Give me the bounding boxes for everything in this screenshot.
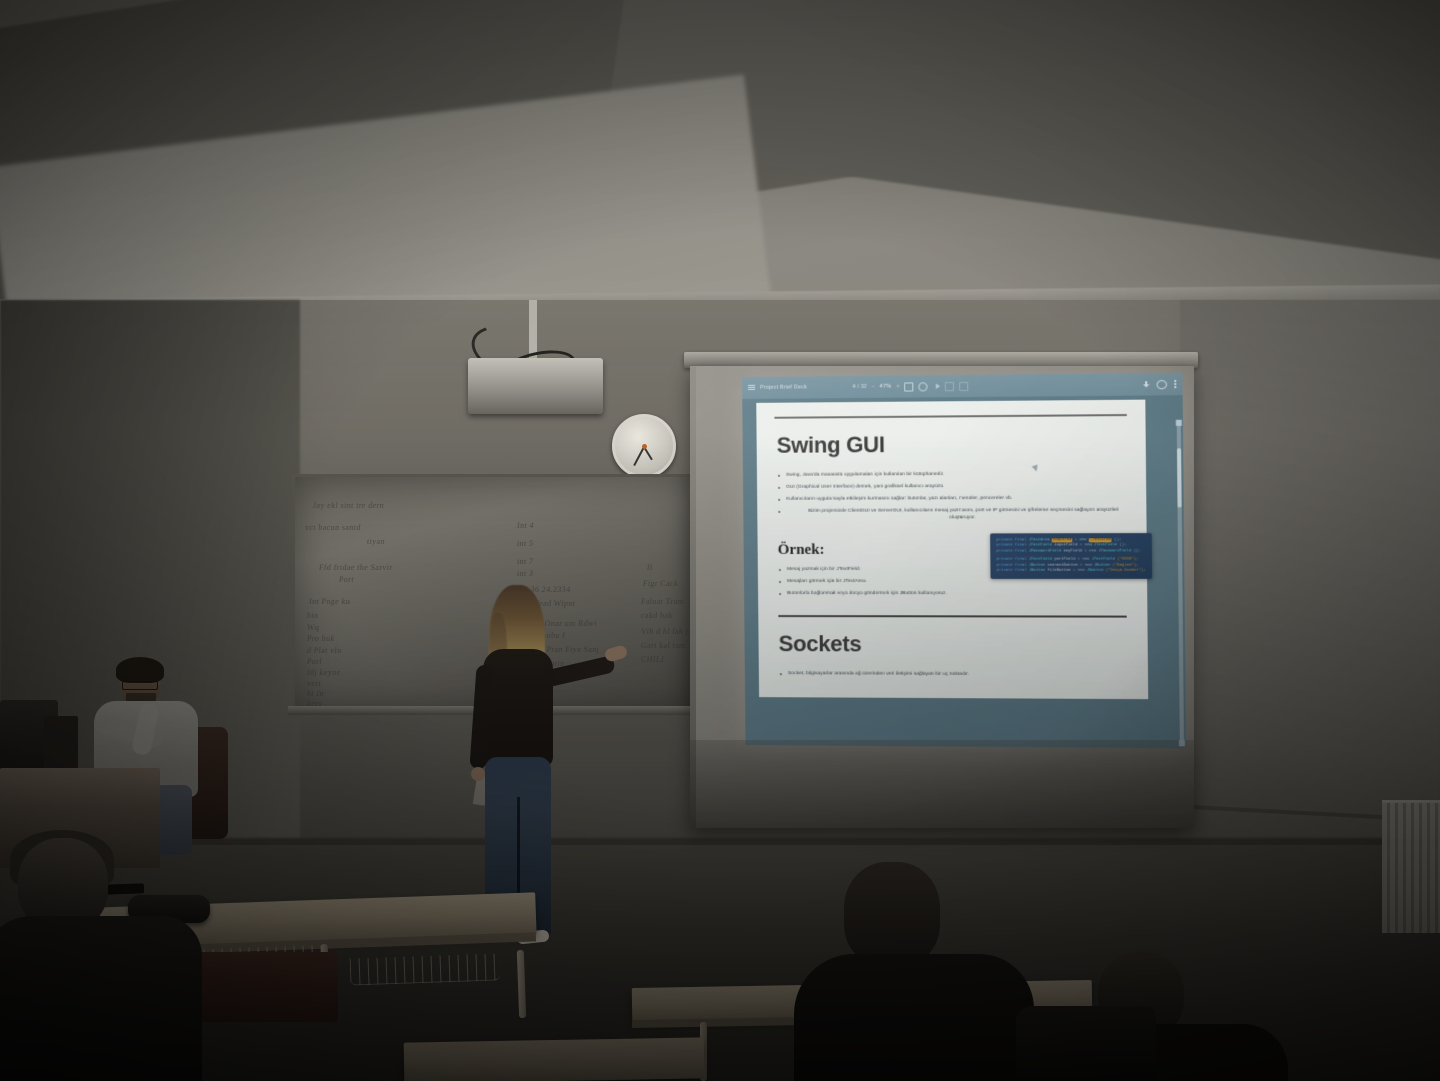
presenter-left-hand [471,767,485,781]
code-keyword: private final [996,558,1026,562]
eyeglasses-icon [122,681,158,690]
whiteboard-note: cakd bak [640,611,673,620]
student-torso [0,916,202,1081]
student-desk [404,1037,705,1081]
code-operator: = new [1078,558,1090,562]
code-variable: inputField [1054,544,1077,548]
code-variable: connectButton [1047,563,1077,567]
page-current: 4 [853,384,856,390]
code-variable: keyField [1064,549,1083,553]
code-tail: (); [1114,538,1121,542]
code-string: ("5000"); [1117,558,1138,562]
rotate-icon[interactable] [919,382,928,391]
code-operator: = new [1075,538,1087,542]
toolbar-right-controls [1143,373,1176,396]
code-highlight: chatArea [1052,538,1073,542]
code-operator: = new [1073,569,1085,573]
code-class: JButton [1087,569,1103,573]
whiteboard-note: Figr Cack [642,579,678,588]
slide-content: Swing GUI Swing, Java'da masaüstü uygula… [756,416,1148,700]
whiteboard-note: Int 4 [516,521,534,530]
whiteboard-note: Gart kal tam [640,641,686,650]
list-item: GUI (Graphical User Interface) demek, ya… [777,483,1125,491]
example-bullet-list: Mesaj yazmak için bir JTextField. Mesajl… [778,567,981,598]
list-item: Butonlarla bağlanmak veya dosya gönderme… [778,591,980,598]
page-separator: / [857,384,858,390]
whiteboard-note: Port [338,575,354,584]
highlight-tool-icon[interactable] [959,381,968,390]
code-class: JTextField [1094,544,1117,548]
clock-minute-hand [633,447,645,466]
example-section: Örnek: Mesaj yazmak için bir JTextField.… [777,527,1126,604]
wall-clock [612,414,676,478]
ceiling [0,0,1440,310]
code-tail: (); [1134,549,1141,553]
print-icon[interactable] [1157,380,1167,389]
slide-title: Swing GUI [777,430,1126,458]
whiteboard-note: Vih d hl lah j [640,627,688,636]
list-item: Bizim projemizde ClientGUI ve ServerGUI,… [777,508,1125,522]
whiteboard-note: Jay ekl sint tre dern [312,501,384,510]
code-keyword: private final [996,549,1026,553]
fit-page-icon[interactable] [905,382,914,391]
seated-person-hair [116,657,164,683]
code-type: JButton [1029,569,1045,573]
page-indicator[interactable]: 4 / 32 [853,384,867,390]
scrollbar-thumb[interactable] [1177,448,1182,507]
whiteboard-note: fi [646,563,653,572]
whiteboard-note: vct bacun santd [304,523,361,532]
code-line: private final JButton fileButton = new J… [997,569,1146,575]
code-variable: portField [1054,558,1075,562]
example-heading: Örnek: [778,542,981,559]
code-string: ("Dosya Gonder"); [1106,569,1146,573]
code-class: JPasswordField [1099,549,1132,553]
more-options-icon[interactable] [1174,380,1176,388]
whiteboard-note: fdj keyne [306,668,341,677]
code-class: JTextField [1092,558,1115,562]
zoom-in-button[interactable]: + [896,384,899,390]
hamburger-menu-icon[interactable] [748,385,755,391]
toolbar-center-controls: 4 / 32 − 47% + [852,375,968,398]
student-head [844,862,940,966]
zoom-out-button[interactable]: − [871,384,874,390]
whiteboard-note: Wq [306,623,319,632]
presenter-torso [483,649,553,767]
download-icon[interactable] [1143,381,1149,388]
code-operator: = new [1080,563,1092,567]
foreground-student-left [0,838,200,1081]
backpack [1016,1006,1156,1081]
sockets-section: Sockets Socket, bilgisayarlar arasında a… [778,615,1127,679]
whiteboard-note: bin [306,611,319,620]
presenter-right-arm [542,655,616,688]
desk-book-basket [350,953,501,985]
code-string: ("Baglan"); [1113,563,1139,567]
whiteboard-note: Pro buk [306,634,335,643]
foreground-student-center [806,862,1026,1081]
code-type: JTextField [1029,558,1052,562]
draw-tool-icon[interactable] [945,382,954,391]
code-class: JTextArea [1089,538,1112,542]
whiteboard-note: Porl [306,657,322,666]
sockets-bullet-list: Socket, bilgisayarlar arasında ağ üzerin… [779,672,1127,680]
slide-bullet-list: Swing, Java'da masaüstü uygulamaları içi… [777,471,1126,522]
scroll-down-arrow-icon[interactable] [1179,740,1185,746]
whiteboard-note: Int Pnge ku [308,597,350,606]
zoom-level-display[interactable]: 47% [879,384,891,390]
code-line: private final JPasswordField keyField = … [996,549,1145,555]
code-type: JPasswordField [1029,549,1062,553]
code-snippet-block: private final JTextArea chatArea = new J… [990,533,1152,579]
whiteboard-note: Ffd fridae the Sarvir [318,563,393,572]
code-keyword: private final [997,563,1027,567]
list-item: Mesajları görmek için bir JTextArea. [778,579,980,586]
code-operator: = new [1080,544,1092,548]
code-type: JTextField [1029,544,1052,548]
whiteboard-note: Faluat Tram [640,597,684,606]
ceiling-projector [468,358,603,414]
section-title-sockets: Sockets [778,631,1127,658]
code-variable: fileButton [1048,569,1071,573]
list-item: Mesaj yazmak için bir JTextField. [778,567,980,574]
radiator [1382,800,1440,933]
list-item: Swing, Java'da masaüstü uygulamaları içi… [777,471,1125,479]
whiteboard-note: d Plat vln [306,646,342,655]
whiteboard-note: CHILI [640,655,664,664]
whiteboard-note: int 3 [516,569,534,578]
projected-pdf-viewer: Project Brief Deck 4 / 32 − 47% + [742,373,1186,749]
document-title: Project Brief Deck [760,384,807,390]
page-total: 32 [861,384,867,390]
student-torso [794,954,1034,1081]
viewer-canvas: Swing GUI Swing, Java'da masaüstü uygula… [742,395,1186,748]
presenter-right-hand [604,644,629,663]
code-keyword: private final [996,538,1026,542]
pointer-tool-icon[interactable] [933,383,940,390]
list-item: Socket, bilgisayarlar arasında ağ üzerin… [779,672,1127,680]
projection-screen-left-edge [690,366,696,828]
code-class: JButton [1094,563,1110,567]
classroom-scene: Jay ekl sint tre dern vct bacun santd ti… [0,0,1440,1081]
whiteboard-note: tiyan [366,537,385,546]
clock-center-pin [642,444,647,449]
list-item: Kullanıcıların uygulamayla etkileşim kur… [777,496,1125,504]
whiteboard-note: veri [306,679,321,688]
code-keyword: private final [997,569,1027,573]
example-text-column: Örnek: Mesaj yazmak için bir JTextField.… [777,527,980,603]
code-type: JTextArea [1029,538,1050,542]
code-keyword: private final [996,544,1026,548]
chair-backrest [178,952,338,1022]
code-type: JButton [1029,563,1045,567]
whiteboard-note: int 7 [516,557,534,566]
document-page: Swing GUI Swing, Java'da masaüstü uygula… [756,400,1148,700]
whiteboard-note: int 5 [516,539,534,548]
code-operator: = new [1085,549,1097,553]
whiteboard-note: hi fn [306,689,324,698]
code-tail: (); [1119,544,1126,548]
